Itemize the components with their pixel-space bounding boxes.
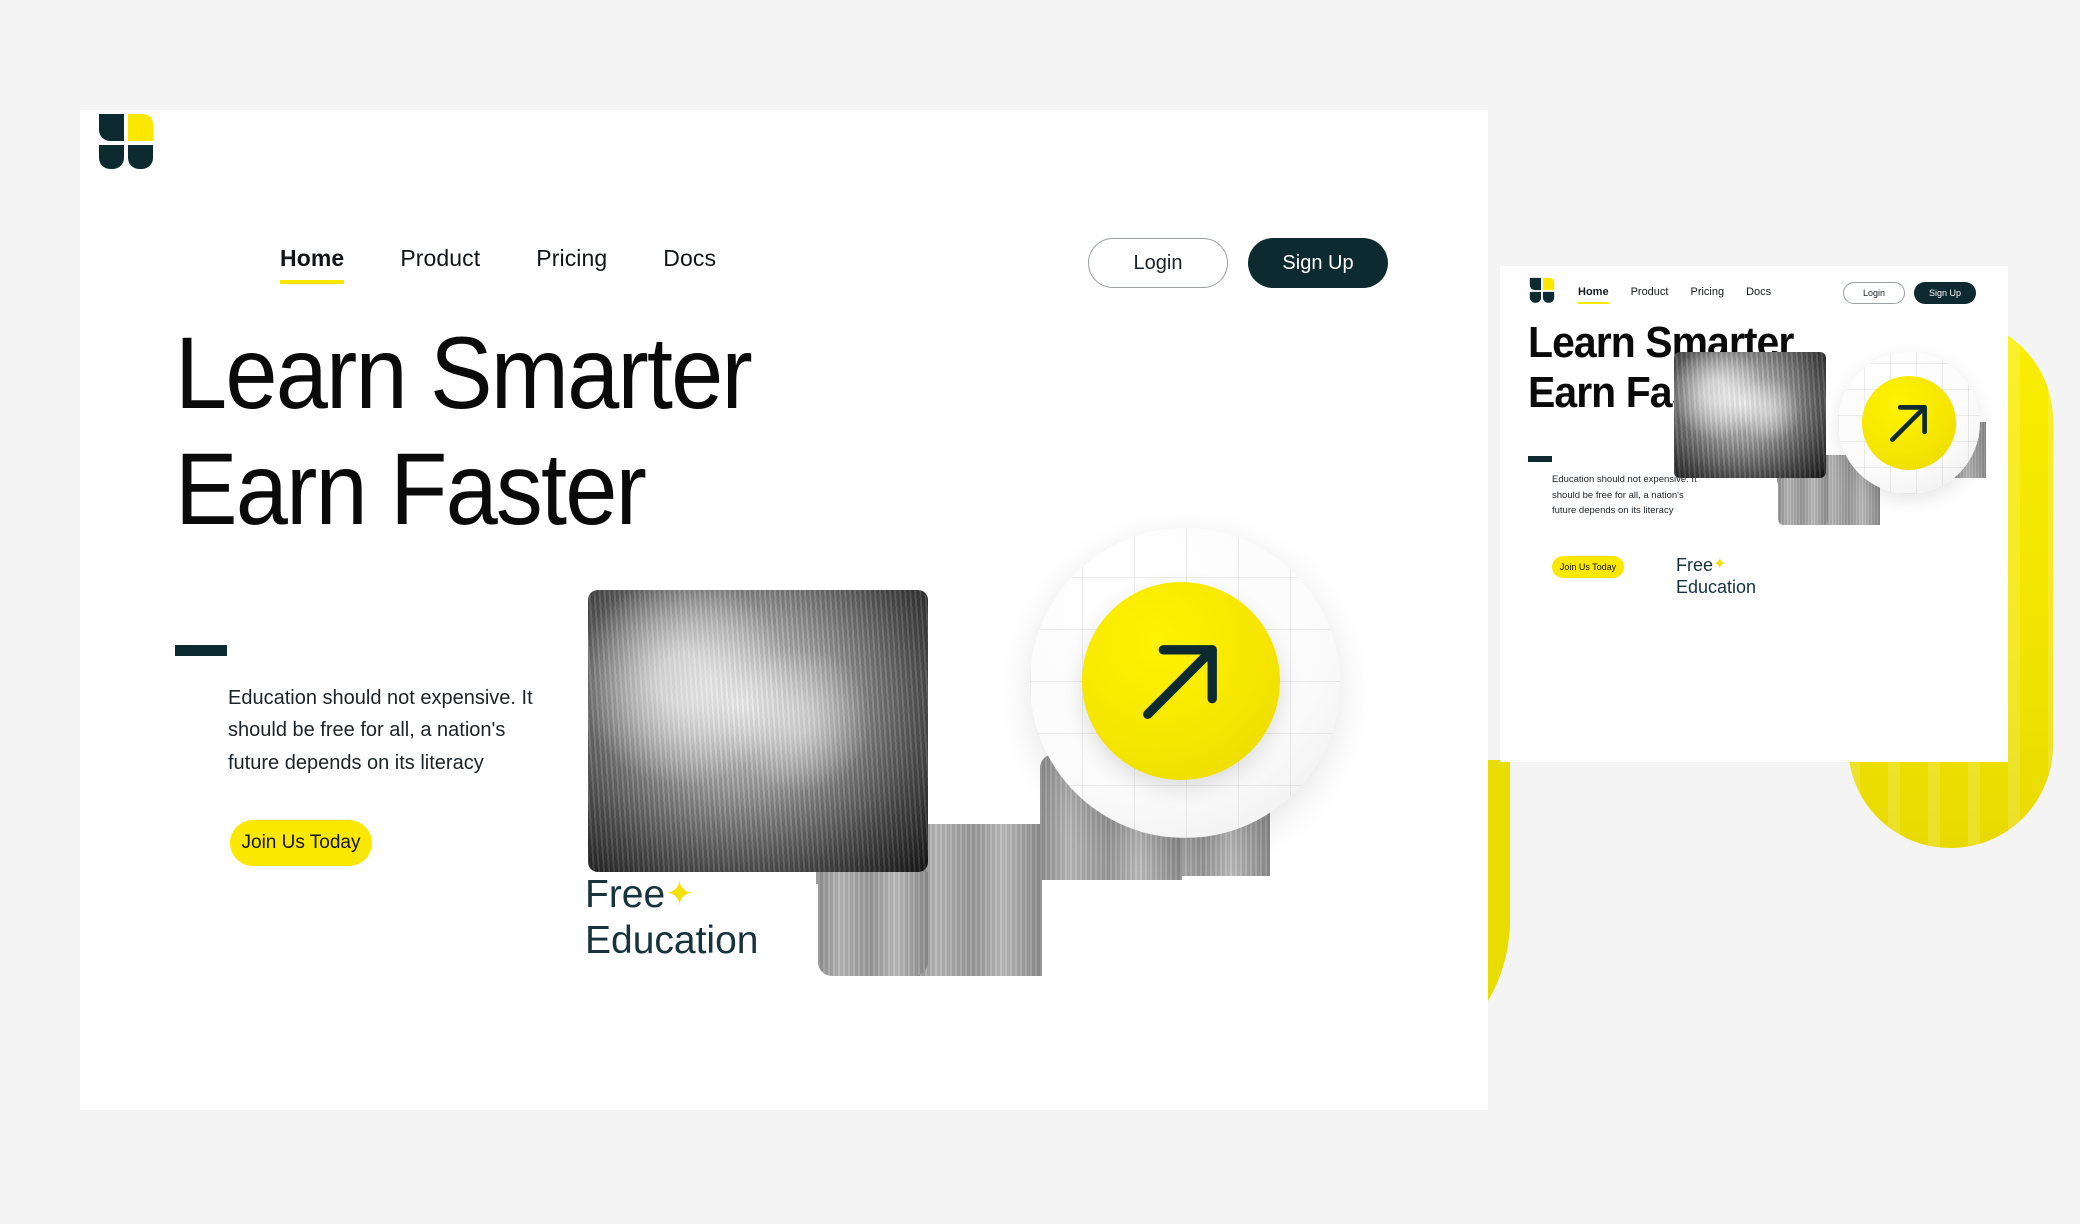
hero-description: Education should not expensive. It shoul…	[228, 682, 538, 779]
sparkle-icon: ✦	[665, 875, 694, 913]
hero-title: Learn Smarter Earn Faster	[175, 315, 751, 548]
metal-sculpture-image	[588, 590, 928, 872]
nav-actions: Login Sign Up	[1088, 238, 1388, 288]
nav-item-pricing[interactable]: Pricing	[536, 245, 607, 284]
nav-item-docs[interactable]: Docs	[663, 245, 716, 284]
preview-free-education-caption: Free✦ Education	[1676, 555, 1756, 598]
preview-nav: Home Product Pricing Docs	[1578, 286, 1771, 304]
preview-nav-item-home[interactable]: Home	[1578, 286, 1609, 304]
preview-nav-item-pricing[interactable]: Pricing	[1690, 286, 1724, 304]
stair-segment	[910, 824, 1042, 976]
brand-logo[interactable]	[95, 112, 157, 174]
leaf-quadrant-logo-icon	[95, 112, 157, 174]
join-us-today-button[interactable]: Join Us Today	[230, 820, 372, 866]
caption-line-1: Free	[585, 873, 665, 916]
preview-arrow-cta-circle[interactable]	[1862, 376, 1956, 470]
metal-sculpture-image	[1674, 352, 1826, 478]
preview-login-button[interactable]: Login	[1843, 282, 1905, 304]
sparkle-icon: ✦	[1713, 556, 1726, 573]
preview-hero-photo	[1674, 352, 1826, 478]
free-education-caption: Free✦ Education	[585, 872, 758, 964]
arrow-cta-circle[interactable]	[1082, 582, 1280, 780]
leaf-quadrant-logo-icon	[1528, 277, 1556, 305]
hero-divider-rule	[175, 645, 227, 656]
arrow-up-right-icon	[1129, 629, 1233, 733]
nav-item-product[interactable]: Product	[400, 245, 480, 284]
nav-item-home[interactable]: Home	[280, 245, 344, 284]
preview-brand-logo[interactable]	[1528, 277, 1556, 305]
canvas: Home Product Pricing Docs Login Sign Up …	[0, 0, 2080, 1224]
preview-caption-line-1: Free	[1676, 555, 1713, 575]
signup-button[interactable]: Sign Up	[1248, 238, 1388, 288]
preview-nav-actions: Login Sign Up	[1843, 282, 1976, 304]
stair-segment	[818, 872, 928, 976]
login-button[interactable]: Login	[1088, 238, 1228, 288]
main-nav: Home Product Pricing Docs	[280, 245, 716, 284]
preview-nav-item-docs[interactable]: Docs	[1746, 286, 1771, 304]
preview-hero-divider-rule	[1528, 456, 1552, 462]
preview-join-us-today-button[interactable]: Join Us Today	[1552, 556, 1624, 578]
preview-nav-item-product[interactable]: Product	[1631, 286, 1669, 304]
stair-segment	[1778, 477, 1828, 525]
preview-landing-panel: Home Product Pricing Docs Login Sign Up …	[1500, 266, 2008, 762]
arrow-up-right-icon	[1883, 397, 1935, 449]
caption-line-2: Education	[585, 919, 758, 962]
preview-signup-button[interactable]: Sign Up	[1914, 282, 1976, 304]
hero-photo	[588, 590, 928, 872]
preview-caption-line-2: Education	[1676, 577, 1756, 597]
